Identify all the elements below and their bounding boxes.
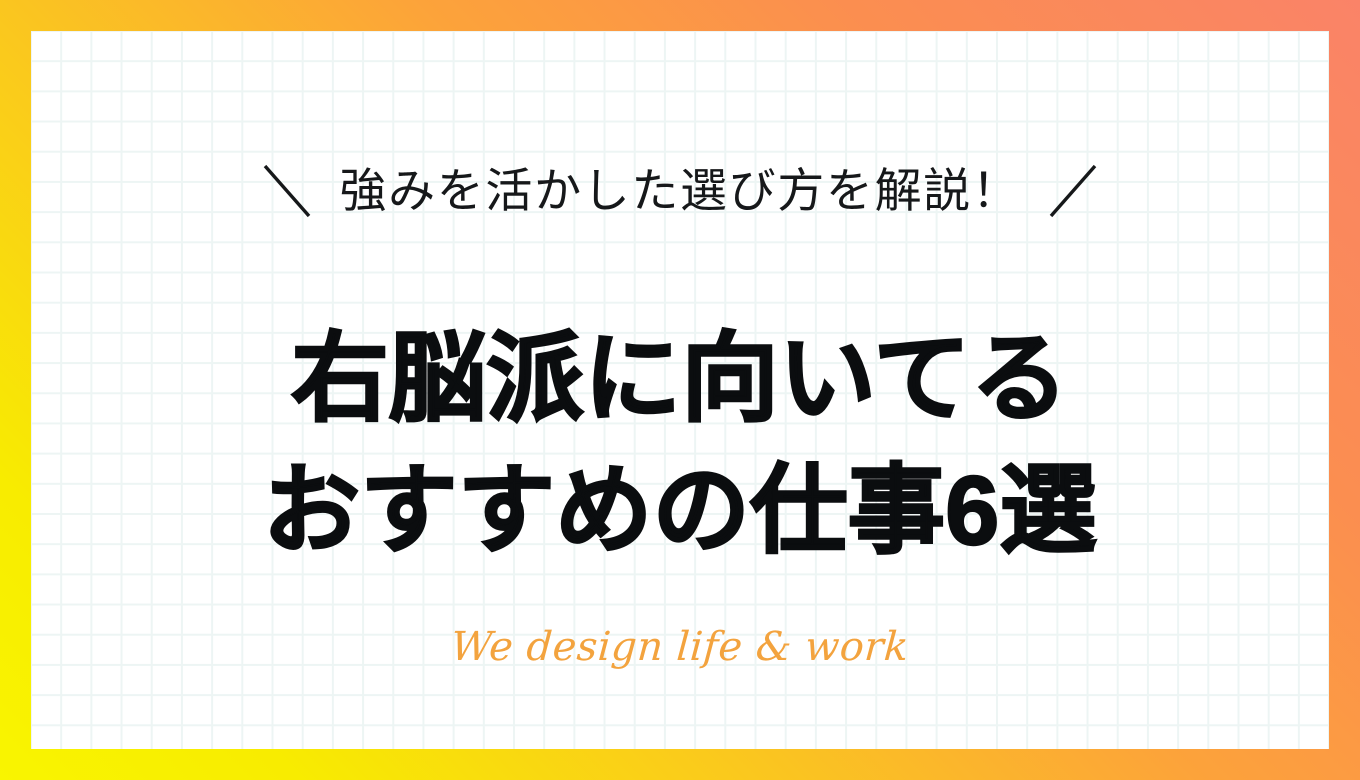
tagline-text: We design life & work bbox=[449, 623, 910, 671]
tagline: We design life & work bbox=[31, 623, 1329, 671]
headline-line-1: 右脳派に向いてる bbox=[31, 313, 1329, 445]
eyebrow-text: 強みを活かした選び方を解説！ bbox=[339, 165, 1020, 217]
headline-line-2: おすすめの仕事6選 bbox=[31, 445, 1329, 577]
banner-frame: 強みを活かした選び方を解説！ 右脳派に向いてる おすすめの仕事6選 We des… bbox=[0, 0, 1360, 780]
page-title: 右脳派に向いてる おすすめの仕事6選 bbox=[31, 313, 1329, 577]
eyebrow-row: 強みを活かした選び方を解説！ bbox=[31, 162, 1329, 220]
backslash-icon bbox=[261, 162, 313, 220]
grid-paper-card: 強みを活かした選び方を解説！ 右脳派に向いてる おすすめの仕事6選 We des… bbox=[31, 31, 1329, 749]
forwardslash-icon bbox=[1047, 162, 1099, 220]
